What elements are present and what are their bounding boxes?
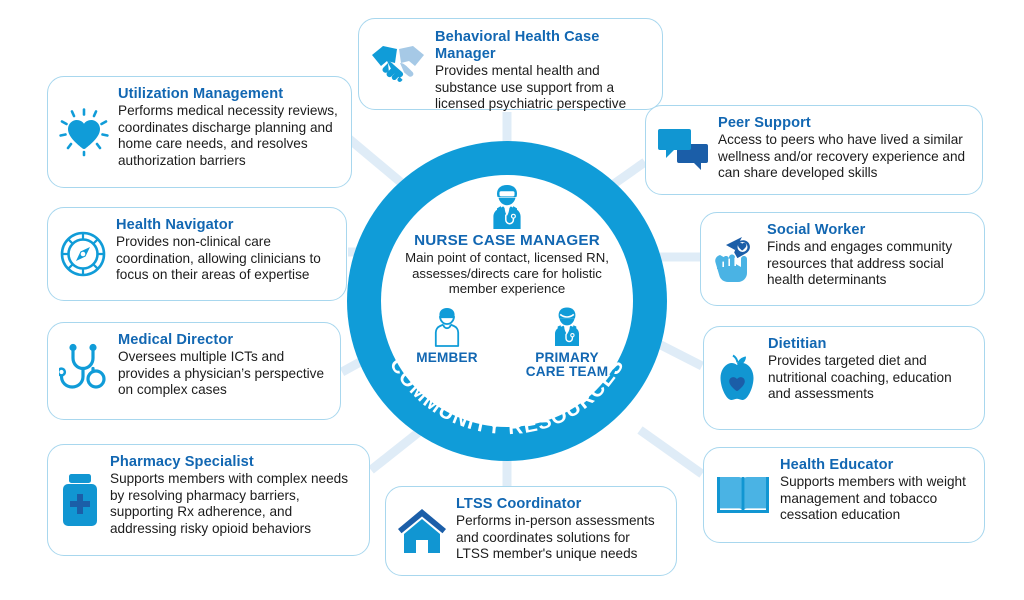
card-description: Oversees multiple ICTs and provides a ph… [118, 349, 328, 399]
card-title: Health Educator [780, 457, 972, 474]
hub-title: NURSE CASE MANAGER [414, 232, 600, 249]
card-description: Finds and engages community resources th… [767, 239, 972, 289]
card-title: Dietitian [768, 336, 972, 353]
hub-figure-primary-care: PRIMARY CARE TEAM [524, 306, 610, 380]
card-description: Provides mental health and substance use… [435, 63, 650, 113]
card-peer-support[interactable]: Peer Support Access to peers who have li… [645, 105, 983, 195]
central-hub: COMMUNITY RESOURCES [347, 141, 667, 461]
card-health-educator[interactable]: Health Educator Supports members with we… [703, 447, 985, 543]
open-book-icon [715, 474, 771, 516]
stethoscope-icon [59, 343, 109, 399]
card-description: Provides targeted diet and nutritional c… [768, 353, 972, 403]
hub-description: Main point of contact, licensed RN, asse… [390, 250, 625, 297]
nurse-icon [487, 183, 527, 231]
member-person-icon [430, 306, 464, 348]
card-title: LTSS Coordinator [456, 496, 664, 513]
card-title: Behavioral Health Case Manager [435, 29, 650, 63]
card-title: Pharmacy Specialist [110, 454, 357, 471]
card-title: Utilization Management [118, 86, 339, 103]
card-description: Supports members with complex needs by r… [110, 471, 357, 537]
card-description: Performs in-person assessments and coord… [456, 513, 664, 563]
card-utilization-management[interactable]: Utilization Management Performs medical … [47, 76, 352, 188]
hub-content: NURSE CASE MANAGER Main point of contact… [381, 175, 633, 427]
card-pharmacy-specialist[interactable]: Pharmacy Specialist Supports members wit… [47, 444, 370, 556]
handshake-icon [370, 41, 426, 87]
card-social-worker[interactable]: Social Worker Finds and engages communit… [700, 212, 985, 306]
card-health-navigator[interactable]: Health Navigator Provides non-clinical c… [47, 207, 347, 301]
card-description: Access to peers who have lived a similar… [718, 132, 970, 182]
pill-bottle-icon [59, 472, 101, 528]
card-title: Health Navigator [116, 217, 334, 234]
hub-figure-label-primary-care: PRIMARY CARE TEAM [526, 351, 609, 380]
card-title: Peer Support [718, 115, 970, 132]
card-description: Performs medical necessity reviews, coor… [118, 103, 339, 169]
apple-heart-icon [715, 353, 759, 403]
card-medical-director[interactable]: Medical Director Oversees multiple ICTs … [47, 322, 341, 420]
card-title: Social Worker [767, 222, 972, 239]
hub-figure-member: MEMBER [404, 306, 490, 366]
card-description: Supports members with weight management … [780, 474, 972, 524]
card-behavioral-health-case-manager[interactable]: Behavioral Health Case Manager Provides … [358, 18, 663, 110]
hub-figure-group: MEMBER [404, 306, 610, 380]
care-team-diagram: COMMUNITY RESOURCES [0, 0, 1024, 600]
helping-hands-heart-icon [712, 233, 758, 285]
card-dietitian[interactable]: Dietitian Provides targeted diet and nut… [703, 326, 985, 430]
speech-bubbles-icon [657, 127, 709, 173]
primary-care-nurse-icon [549, 306, 585, 348]
hub-figure-label-member: MEMBER [416, 351, 478, 366]
compass-icon [59, 230, 107, 278]
card-title: Medical Director [118, 332, 328, 349]
card-ltss-coordinator[interactable]: LTSS Coordinator Performs in-person asse… [385, 486, 677, 576]
house-icon [397, 507, 447, 555]
card-description: Provides non-clinical care coordination,… [116, 234, 334, 284]
shining-heart-icon [59, 107, 109, 157]
